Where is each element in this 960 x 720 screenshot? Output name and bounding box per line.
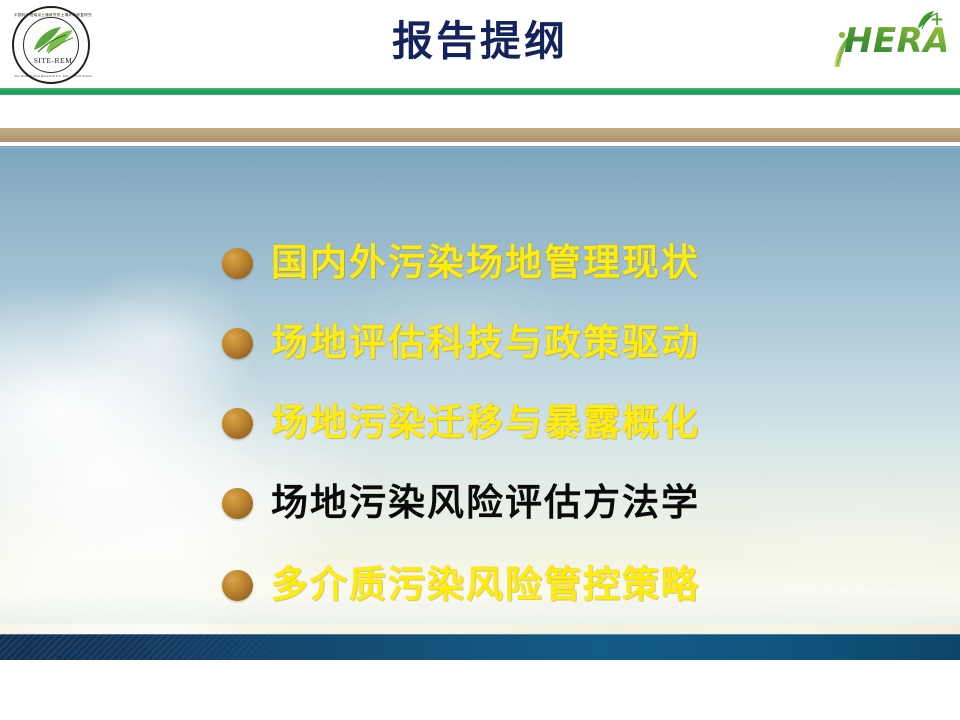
bullet-dot-icon bbox=[222, 570, 253, 601]
slide-root: 中国科学院南京土壤研究所土壤环境修复研究中心 SITE-REM Site Rem… bbox=[0, 0, 960, 720]
list-item-label: 多介质污染风险管控策略 bbox=[271, 563, 700, 607]
header-accent-rule bbox=[0, 88, 960, 95]
list-item[interactable]: 场地评估科技与政策驱动 bbox=[222, 314, 700, 372]
list-item-label: 国内外污染场地管理现状 bbox=[271, 241, 700, 285]
slide-header: 中国科学院南京土壤研究所土壤环境修复研究中心 SITE-REM Site Rem… bbox=[0, 0, 960, 88]
bottom-accent-band bbox=[0, 634, 960, 660]
list-item[interactable]: 场地污染迁移与暴露概化 bbox=[222, 394, 700, 452]
bullet-dot-icon bbox=[222, 328, 253, 359]
hera-logo: HERA ++ bbox=[826, 5, 946, 75]
seal-arc-bottom-text: Site Remediation Research Ctr. Inst. of … bbox=[14, 74, 92, 78]
list-item[interactable]: 多介质污染风险管控策略 bbox=[222, 556, 700, 614]
bullet-dot-icon bbox=[222, 248, 253, 279]
svg-text:++: ++ bbox=[930, 10, 946, 30]
list-item-label: 场地评估科技与政策驱动 bbox=[271, 321, 700, 365]
list-item-label: 场地污染迁移与暴露概化 bbox=[271, 401, 700, 445]
panel-top-border bbox=[0, 128, 960, 142]
outline-list: 国内外污染场地管理现状 场地评估科技与政策驱动 场地污染迁移与暴露概化 场地污染… bbox=[0, 146, 960, 660]
list-item-label: 场地污染风险评估方法学 bbox=[271, 481, 700, 525]
page-title: 报告提纲 bbox=[0, 14, 960, 68]
bullet-dot-icon bbox=[222, 408, 253, 439]
list-item[interactable]: 场地污染风险评估方法学 bbox=[222, 474, 700, 532]
content-panel: 国内外污染场地管理现状 场地评估科技与政策驱动 场地污染迁移与暴露概化 场地污染… bbox=[0, 128, 960, 660]
list-item[interactable]: 国内外污染场地管理现状 bbox=[222, 234, 700, 292]
bullet-dot-icon bbox=[222, 488, 253, 519]
bottom-band-hatch-pattern bbox=[0, 634, 330, 660]
